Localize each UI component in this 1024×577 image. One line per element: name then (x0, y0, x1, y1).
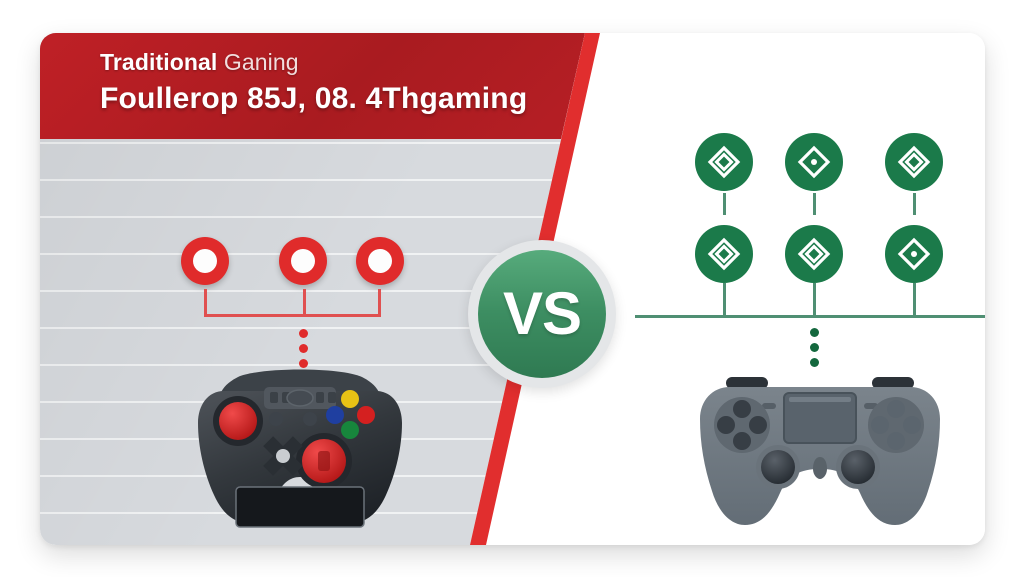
diamond-outline-icon-3[interactable] (885, 133, 943, 191)
comparison-card: Traditional Ganing Foullerop 85J, 08. 4T… (40, 33, 985, 545)
headline-secondary: Traditional Ganing (100, 45, 580, 79)
diamond-outline-icon-4[interactable] (695, 225, 753, 283)
diamond-dot-icon-2[interactable] (785, 133, 843, 191)
black-game-controller (190, 363, 410, 543)
headline-light: Ganing (224, 49, 299, 75)
connector-stem-5 (813, 283, 816, 316)
red-dot-2 (299, 344, 308, 353)
diamond-dot-icon-6[interactable] (885, 225, 943, 283)
ring-icon-2[interactable] (279, 237, 327, 285)
connector-stem-3 (913, 193, 916, 215)
ring-icon-1[interactable] (181, 237, 229, 285)
red-connector-stem-1 (204, 289, 207, 317)
connector-stem-6 (913, 283, 916, 316)
diamond-outline-icon-1[interactable] (695, 133, 753, 191)
green-dot-1 (810, 328, 819, 337)
vs-badge-inner: VS (478, 250, 606, 378)
green-dot-2 (810, 343, 819, 352)
connector-stem-2 (813, 193, 816, 215)
red-dot-1 (299, 329, 308, 338)
vs-badge: VS (468, 240, 616, 388)
horizontal-connector-line (635, 315, 985, 318)
diamond-outline-icon-5[interactable] (785, 225, 843, 283)
red-horizontal-connector (204, 314, 381, 317)
green-dot-3 (810, 358, 819, 367)
ring-icon-3[interactable] (356, 237, 404, 285)
title-block: Traditional Ganing Foullerop 85J, 08. 4T… (100, 45, 580, 119)
connector-stem-4 (723, 283, 726, 316)
gray-game-controller (690, 371, 950, 541)
headline-primary: Foullerop 85J, 08. 4Thgaming (100, 79, 580, 119)
headline-strong: Traditional (100, 49, 217, 75)
connector-stem-1 (723, 193, 726, 215)
red-connector-stem-3 (378, 289, 381, 317)
red-connector-stem-2 (303, 289, 306, 317)
vs-label: VS (503, 284, 581, 344)
screenshot-root: Traditional Ganing Foullerop 85J, 08. 4T… (0, 0, 1024, 577)
